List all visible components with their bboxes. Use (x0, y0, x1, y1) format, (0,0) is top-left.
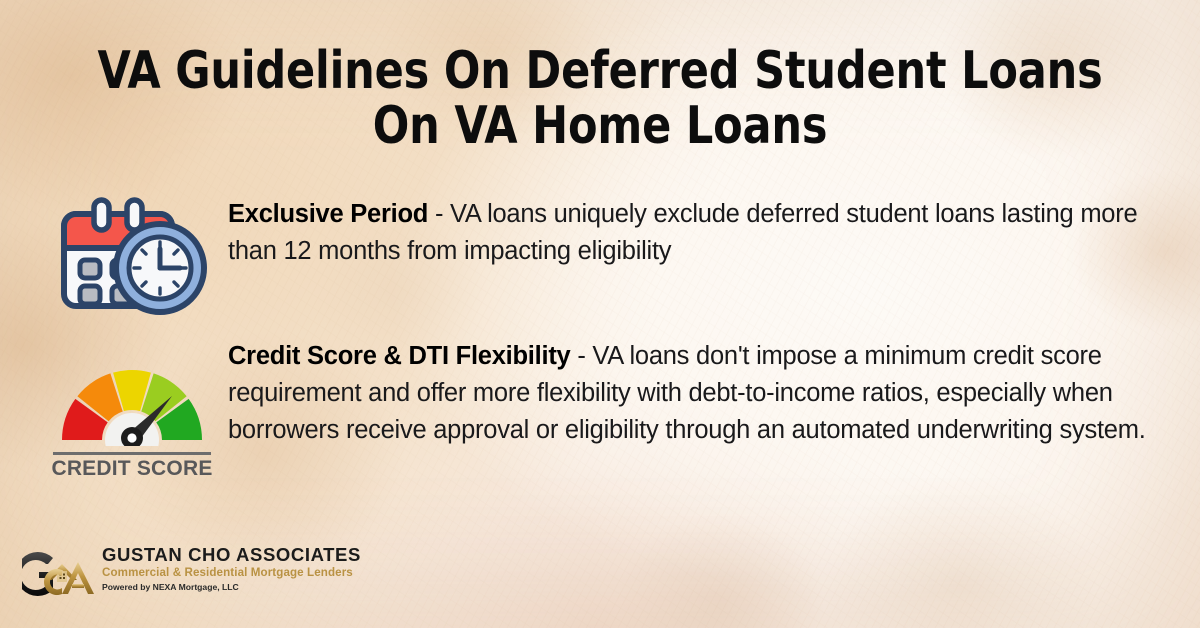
title-line-1: VA Guidelines On Deferred Student Loans (48, 44, 1152, 99)
brand-logo-text: GUSTAN CHO ASSOCIATES Commercial & Resid… (102, 545, 361, 594)
bullet-1-text-cell: Exclusive Period - VA loans uniquely exc… (220, 196, 1164, 270)
bullet-2-lead: Credit Score & DTI Flexibility (228, 342, 571, 370)
infographic-poster: VA Guidelines On Deferred Student Loans … (0, 0, 1200, 628)
bullet-item-exclusive-period: Exclusive Period - VA loans uniquely exc… (44, 196, 1164, 316)
bullet-1-icon-cell (44, 196, 220, 316)
bullet-1-lead: Exclusive Period (228, 200, 428, 228)
brand-subline: Powered by NEXA Mortgage, LLC (102, 582, 361, 593)
credit-score-divider (53, 452, 211, 455)
poster-content: VA Guidelines On Deferred Student Loans … (0, 0, 1200, 628)
footer: GUSTAN CHO ASSOCIATES Commercial & Resid… (0, 532, 1200, 628)
bullet-1-paragraph: Exclusive Period - VA loans uniquely exc… (228, 196, 1164, 270)
bullet-2-separator: - (571, 342, 593, 370)
credit-score-label: CREDIT SCORE (47, 457, 217, 482)
calendar-clock-icon (56, 196, 208, 316)
bullet-2-icon-cell: CREDIT SCORE (44, 338, 220, 500)
bullet-2-paragraph: Credit Score & DTI Flexibility - VA loan… (228, 338, 1164, 450)
gauge-dial (47, 360, 217, 446)
credit-score-gauge-icon: CREDIT SCORE (47, 360, 217, 482)
brand-tagline: Commercial & Residential Mortgage Lender… (102, 566, 361, 580)
bullet-1-separator: - (428, 200, 450, 228)
bullet-2-text-cell: Credit Score & DTI Flexibility - VA loan… (220, 338, 1164, 450)
title-line-2: On VA Home Loans (48, 99, 1152, 154)
brand-logo[interactable]: GUSTAN CHO ASSOCIATES Commercial & Resid… (22, 540, 361, 598)
bullet-item-credit-score-dti: CREDIT SCORE Credit Score & DTI Flexibil… (44, 338, 1164, 500)
page-title: VA Guidelines On Deferred Student Loans … (0, 44, 1200, 154)
brand-name: GUSTAN CHO ASSOCIATES (102, 545, 361, 565)
gca-monogram-icon (22, 540, 98, 598)
